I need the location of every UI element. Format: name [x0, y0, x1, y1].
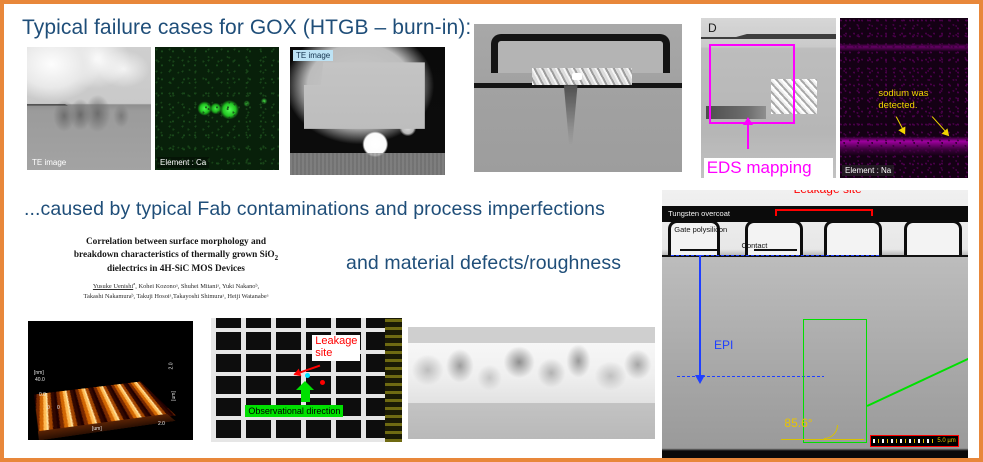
substrate-layer: [408, 403, 655, 439]
panel-eds-map-calcium: Element : Ca: [155, 47, 279, 170]
sodium-annotation-line-2: detected.: [878, 100, 928, 112]
leakage-site-label: Leakage site: [312, 335, 360, 361]
panel-corner-label-d: D: [705, 21, 720, 37]
leakage-marker-red: [320, 380, 325, 385]
panel-tem-polycrystalline-film: [408, 327, 655, 439]
observation-direction-arrow: [301, 389, 310, 402]
afm-axis-y-label: [um]: [171, 391, 177, 401]
panel-die-array-leakage-map: Leakage site Observational direction: [211, 318, 402, 442]
observation-direction-label: Observational direction: [245, 405, 343, 417]
paper-authors-line-2: Takashi Nakamuraᵇ, Takuji Hosoiᵃ,Takayos…: [84, 293, 269, 300]
sodium-annotation-line-1: sodium was: [878, 88, 928, 100]
slide-canvas: Typical failure cases for GOX (HTGB – bu…: [0, 0, 983, 462]
leakage-site-bracket: [775, 209, 873, 216]
panel-eds-map-sodium: sodium was detected. Element : Na: [840, 18, 968, 178]
scale-bar-ticks: [873, 439, 934, 443]
device-contact-label: Contact: [742, 241, 768, 250]
mos-cell: [824, 220, 882, 255]
scale-bar-label: 5.0 µm: [934, 438, 955, 444]
epi-depth-arrow: [699, 255, 701, 376]
panel-tem-burn-in-spike: [474, 24, 682, 172]
sodium-arrow-right: [932, 116, 949, 135]
afm-axis-z-max: 40.0: [35, 377, 45, 383]
panel-sem-device-cross-section: Leakage site Tungsten overcoat Gate poly…: [662, 190, 968, 459]
paper-authors-line-1-rest: , Kohei Kozonoᵃ, Shuhei Mitaniᵃ, Yuki Na…: [135, 283, 259, 290]
device-epi-label: EPI: [714, 338, 733, 352]
afm-axis-y-origin: 0: [57, 405, 60, 411]
device-leakage-site-label: Leakage site: [794, 190, 862, 196]
subtitle-contaminations: ...caused by typical Fab contaminations …: [24, 198, 605, 221]
epi-top-dashed-line: [671, 255, 879, 257]
paper-reference-block: Correlation between surface morphology a…: [26, 236, 326, 301]
gate-cap-shape: [491, 34, 670, 72]
paper-title: Correlation between surface morphology a…: [26, 236, 326, 277]
polycrystalline-grain-layer: [408, 343, 655, 403]
paper-first-author: Yusuke Uenishi: [93, 283, 133, 290]
paper-authors: Yusuke Uenishia, Kohei Kozonoᵃ, Shuhei M…: [26, 281, 326, 301]
panel-caption-te-image-2: TE image: [293, 50, 333, 61]
afm-axis-z-min: 0.0: [39, 392, 46, 398]
paper-title-line-2: breakdown characteristics of thermally g…: [74, 250, 275, 260]
device-angle-label: 85.6°: [784, 416, 812, 430]
eds-region-box: [709, 44, 795, 124]
bright-spot: [572, 73, 582, 80]
defect-fragment: [532, 68, 632, 84]
subtitle-material-defects: and material defects/roughness: [346, 252, 621, 275]
leakage-marker-cyan: [305, 373, 310, 378]
defect-callout-ray: [867, 353, 968, 407]
afm-axis-x-label: [um]: [92, 426, 102, 432]
panel-caption-te-image-1: TE image: [29, 157, 69, 168]
afm-axis-z-label: [nm]: [34, 370, 44, 376]
panel-caption-element-na: Element : Na: [842, 165, 894, 176]
burn-in-spike: [559, 85, 582, 147]
paper-title-subscript: 2: [275, 254, 279, 262]
sodium-annotation: sodium was detected.: [878, 88, 928, 112]
panel-tem-void-cross-section: TE image: [290, 47, 445, 175]
panel-tem-bright-field: TE image: [27, 47, 151, 170]
mos-cell: [904, 220, 962, 255]
sodium-arrow-left: [896, 116, 906, 133]
leakage-site-label-line-2: site: [315, 348, 357, 360]
device-gate-polysilicon-label: Gate polysilicon: [674, 225, 727, 234]
eds-pointer-arrow: [747, 124, 749, 150]
afm-axis-x-origin: 0: [47, 405, 50, 411]
afm-axis-y-max: 2.0: [168, 363, 174, 370]
afm-axis-x-max: 2.0: [158, 421, 165, 427]
panel-caption-element-ca: Element : Ca: [157, 157, 209, 168]
page-title: Typical failure cases for GOX (HTGB – bu…: [22, 16, 471, 40]
eds-mapping-caption: EDS mapping: [704, 158, 834, 178]
scale-bar: 5.0 µm: [870, 435, 959, 447]
paper-title-line-1: Correlation between surface morphology a…: [86, 237, 266, 247]
surface-profile-line: [701, 34, 836, 39]
wafer-edge-strip: [385, 318, 402, 442]
panel-afm-surface-morphology: [nm] 40.0 0.0 0 0 [um] 2.0 [um] 2.0: [28, 321, 193, 440]
paper-title-line-3: dielectrics in 4H-SiC MOS Devices: [107, 264, 245, 274]
panel-eds-mapping-region: D EDS mapping: [701, 18, 836, 178]
contact-line: [680, 249, 717, 250]
angle-baseline: [781, 439, 864, 441]
device-tungsten-label: Tungsten overcoat: [668, 209, 730, 218]
